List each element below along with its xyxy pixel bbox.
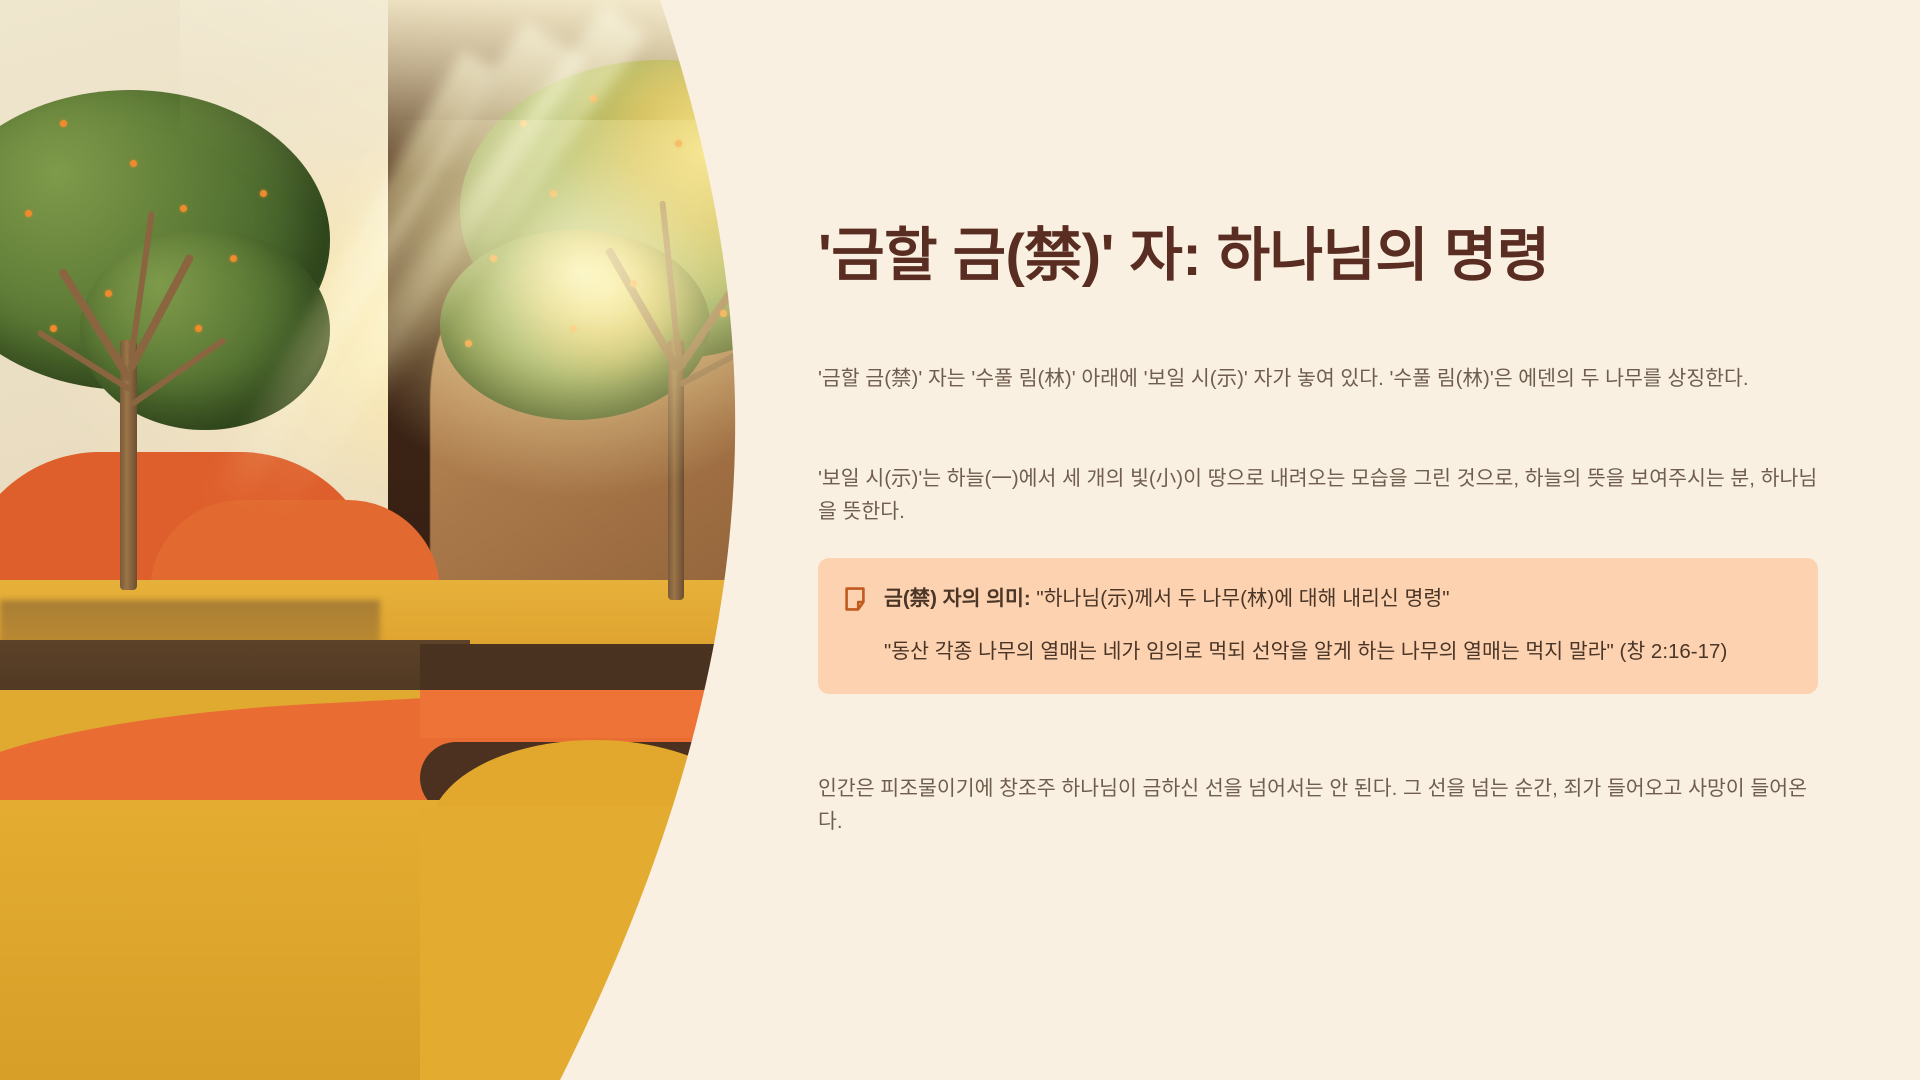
fruit <box>775 235 780 242</box>
fruit <box>25 210 32 217</box>
illustration-canvas <box>0 0 780 1080</box>
callout-heading: 금(禁) 자의 의미: "하나님(示)께서 두 나무(林)에 대해 내리신 명령… <box>884 584 1790 615</box>
fruit <box>490 255 497 262</box>
orange-wave-right <box>420 690 780 738</box>
callout-label: 금(禁) 자의 의미: <box>884 587 1031 610</box>
ground-lower-right <box>420 806 780 1080</box>
body-paragraph-2: '보일 시(示)'는 하늘(一)에서 세 개의 빛(小)이 땅으로 내려오는 모… <box>818 462 1818 528</box>
page-title: '금할 금(禁)' 자: 하나님의 명령 <box>818 222 1828 289</box>
slide-root: '금할 금(禁)' 자: 하나님의 명령 '금할 금(禁)' 자는 '수풀 림(… <box>0 0 1920 1080</box>
callout-scripture-quote: "동산 각종 나무의 열매는 네가 임의로 먹되 선악을 알게 하는 나무의 열… <box>884 635 1784 668</box>
fruit <box>465 340 472 347</box>
ground-dark-band-right <box>420 644 780 690</box>
body-paragraph-1: '금할 금(禁)' 자는 '수풀 림(林)' 아래에 '보일 시(示)' 자가 … <box>818 362 1818 395</box>
fruit <box>105 290 112 297</box>
fruit <box>730 180 737 187</box>
fruit <box>550 190 557 197</box>
fruit <box>570 325 577 332</box>
fruit <box>720 310 727 317</box>
body-paragraph-3: 인간은 피조물이기에 창조주 하나님이 금하신 선을 넘어서는 안 된다. 그 … <box>818 772 1818 838</box>
fruit <box>195 325 202 332</box>
callout-header-row: 금(禁) 자의 의미: "하나님(示)께서 두 나무(林)에 대해 내리신 명령… <box>844 584 1790 615</box>
callout-box: 금(禁) 자의 의미: "하나님(示)께서 두 나무(林)에 대해 내리신 명령… <box>818 558 1818 694</box>
fruit <box>50 325 57 332</box>
fruit <box>675 140 682 147</box>
content-column: '금할 금(禁)' 자: 하나님의 명령 '금할 금(禁)' 자는 '수풀 림(… <box>818 0 1878 1080</box>
fruit <box>230 255 237 262</box>
ground-lower-band <box>0 800 780 1080</box>
fruit <box>130 160 137 167</box>
illustration-panel <box>0 0 780 1080</box>
fruit <box>60 120 67 127</box>
fruit <box>630 280 637 287</box>
fruit <box>180 205 187 212</box>
note-icon <box>844 587 866 611</box>
callout-meaning: "하나님(示)께서 두 나무(林)에 대해 내리신 명령" <box>1036 587 1449 610</box>
fruit <box>260 190 267 197</box>
